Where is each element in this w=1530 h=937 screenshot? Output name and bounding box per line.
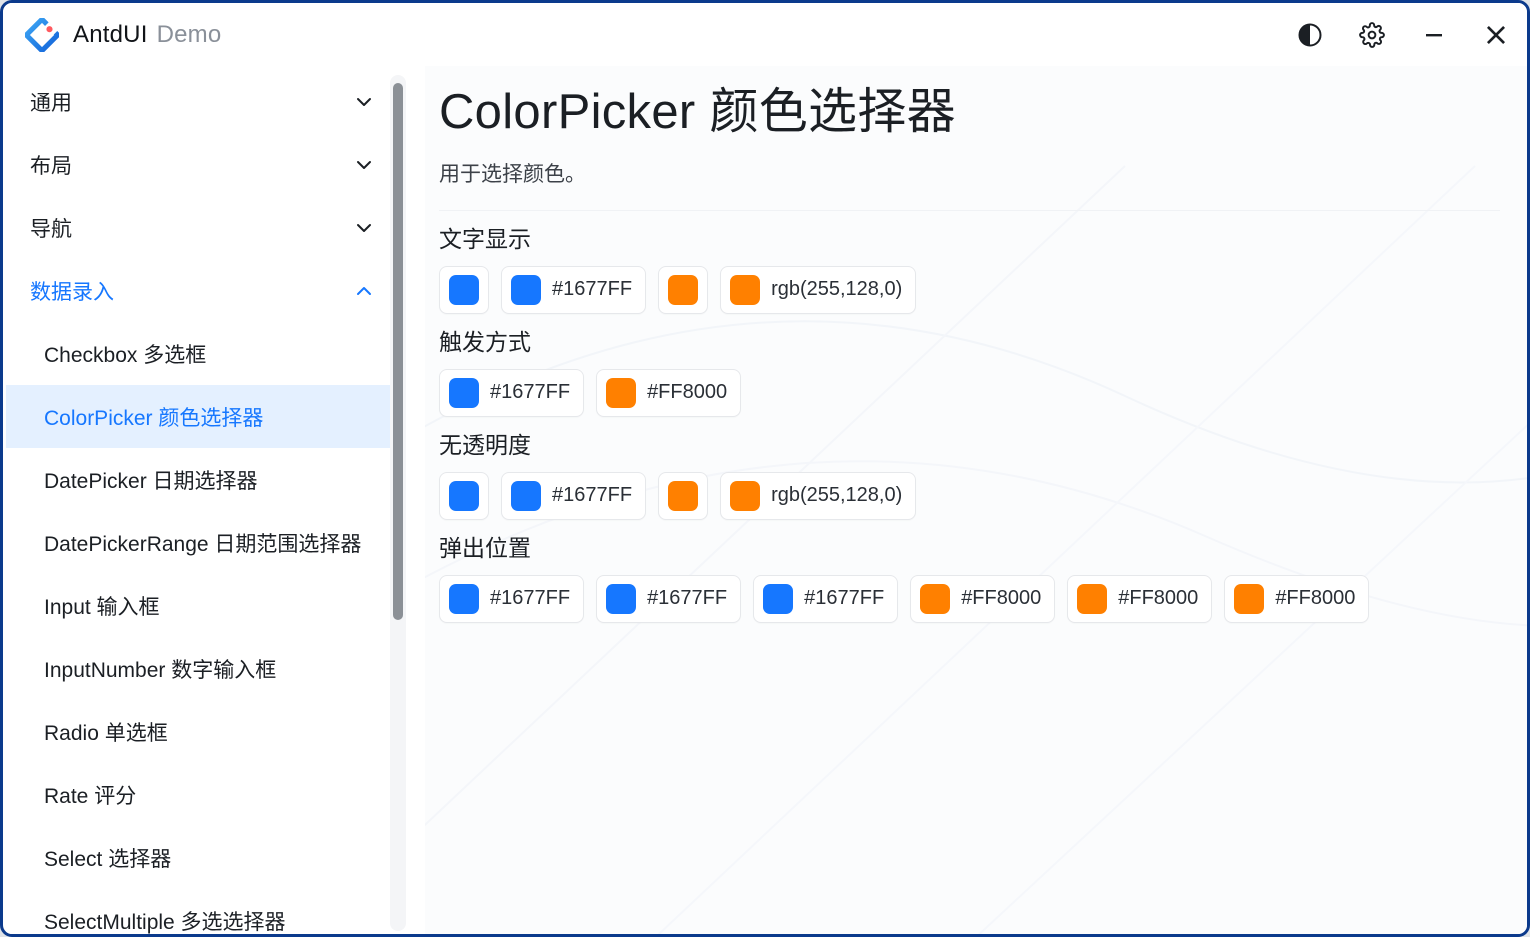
- color-picker-5[interactable]: #FF8000: [1067, 575, 1212, 623]
- section-2: 触发方式#1677FF#FF8000: [439, 323, 1500, 417]
- app-title-sub: Demo: [157, 21, 222, 48]
- color-picker-2[interactable]: #1677FF: [501, 472, 646, 520]
- app-title: AntdUIDemo: [73, 21, 221, 49]
- sidebar-item-9[interactable]: Select 选择器: [6, 826, 406, 889]
- color-swatch-icon: [730, 481, 760, 511]
- color-value-label: #1677FF: [647, 587, 727, 610]
- sidebar-group-1[interactable]: 通用: [6, 70, 406, 133]
- color-picker-1[interactable]: [439, 472, 489, 520]
- color-value-label: #1677FF: [804, 587, 884, 610]
- color-swatch-icon: [449, 481, 479, 511]
- sidebar-group-4[interactable]: 数据录入: [6, 259, 406, 322]
- color-swatch-icon: [730, 275, 760, 305]
- app-window: AntdUIDemo: [0, 0, 1530, 937]
- half-circle-contrast-icon: [1297, 22, 1323, 48]
- sidebar-group-3[interactable]: 导航: [6, 196, 406, 259]
- color-swatch-icon: [668, 481, 698, 511]
- settings-button[interactable]: [1341, 3, 1403, 66]
- color-picker-3[interactable]: #1677FF: [753, 575, 898, 623]
- section-4: 弹出位置#1677FF#1677FF#1677FF#FF8000#FF8000#…: [439, 529, 1500, 623]
- color-swatch-icon: [511, 275, 541, 305]
- section-title: 文字显示: [439, 220, 1500, 254]
- color-swatch-icon: [1077, 584, 1107, 614]
- sidebar-group-label: 布局: [30, 150, 354, 180]
- close-icon: [1481, 20, 1511, 50]
- minimize-button[interactable]: [1403, 3, 1465, 66]
- minimize-icon: [1421, 22, 1447, 48]
- color-picker-1[interactable]: #1677FF: [439, 369, 584, 417]
- chevron-down-icon: [354, 155, 374, 175]
- color-picker-1[interactable]: #1677FF: [439, 575, 584, 623]
- app-brand: AntdUIDemo: [25, 18, 221, 52]
- color-picker-2[interactable]: #1677FF: [596, 575, 741, 623]
- color-picker-3[interactable]: [658, 472, 708, 520]
- sidebar-item-1[interactable]: Checkbox 多选框: [6, 322, 406, 385]
- picker-row: #1677FFrgb(255,128,0): [439, 266, 1500, 314]
- color-picker-1[interactable]: [439, 266, 489, 314]
- color-value-label: #1677FF: [552, 484, 632, 507]
- color-picker-4[interactable]: rgb(255,128,0): [720, 266, 916, 314]
- section-title: 弹出位置: [439, 529, 1500, 563]
- sidebar-group-2[interactable]: 布局: [6, 133, 406, 196]
- color-value-label: rgb(255,128,0): [771, 484, 902, 507]
- sidebar-item-8[interactable]: Rate 评分: [6, 763, 406, 826]
- color-swatch-icon: [606, 378, 636, 408]
- color-swatch-icon: [449, 584, 479, 614]
- sidebar-group-label: 导航: [30, 213, 354, 243]
- section-title: 无透明度: [439, 426, 1500, 460]
- section-1: 文字显示#1677FFrgb(255,128,0): [439, 220, 1500, 314]
- color-value-label: rgb(255,128,0): [771, 278, 902, 301]
- color-picker-4[interactable]: #FF8000: [910, 575, 1055, 623]
- color-swatch-icon: [763, 584, 793, 614]
- color-swatch-icon: [449, 275, 479, 305]
- color-picker-2[interactable]: #1677FF: [501, 266, 646, 314]
- color-swatch-icon: [920, 584, 950, 614]
- antdui-logo-icon: [25, 18, 59, 52]
- sidebar-item-7[interactable]: Radio 单选框: [6, 700, 406, 763]
- sidebar-item-2[interactable]: ColorPicker 颜色选择器: [6, 385, 406, 448]
- color-value-label: #1677FF: [552, 278, 632, 301]
- sidebar-scrollport: 通用布局导航数据录入Checkbox 多选框ColorPicker 颜色选择器D…: [6, 66, 406, 937]
- chevron-down-icon: [354, 92, 374, 112]
- picker-row: #1677FFrgb(255,128,0): [439, 472, 1500, 520]
- picker-row: #1677FF#FF8000: [439, 369, 1500, 417]
- sidebar-scrollbar-track[interactable]: [390, 75, 406, 931]
- color-picker-4[interactable]: rgb(255,128,0): [720, 472, 916, 520]
- color-value-label: #FF8000: [1275, 587, 1355, 610]
- color-swatch-icon: [606, 584, 636, 614]
- title-bar: AntdUIDemo: [3, 3, 1527, 66]
- color-picker-3[interactable]: [658, 266, 708, 314]
- page-subtitle: 用于选择颜色。: [439, 158, 1500, 188]
- color-value-label: #1677FF: [490, 381, 570, 404]
- window-controls: [1279, 3, 1527, 66]
- gear-icon: [1359, 22, 1385, 48]
- sidebar-item-10[interactable]: SelectMultiple 多选选择器: [6, 889, 406, 937]
- sidebar-nav: 通用布局导航数据录入Checkbox 多选框ColorPicker 颜色选择器D…: [6, 66, 406, 937]
- color-picker-6[interactable]: #FF8000: [1224, 575, 1369, 623]
- chevron-down-icon: [354, 218, 374, 238]
- section-3: 无透明度#1677FFrgb(255,128,0): [439, 426, 1500, 520]
- main-content: ColorPicker 颜色选择器 用于选择颜色。 文字显示#1677FFrgb…: [425, 66, 1530, 937]
- close-button[interactable]: [1465, 3, 1527, 66]
- page-title: ColorPicker 颜色选择器: [439, 84, 1500, 142]
- sidebar-item-5[interactable]: Input 输入框: [6, 574, 406, 637]
- sidebar-group-label: 数据录入: [30, 276, 354, 306]
- color-swatch-icon: [1234, 584, 1264, 614]
- section-title: 触发方式: [439, 323, 1500, 357]
- picker-row: #1677FF#1677FF#1677FF#FF8000#FF8000#FF80…: [439, 575, 1500, 623]
- color-value-label: #1677FF: [490, 587, 570, 610]
- color-swatch-icon: [668, 275, 698, 305]
- color-swatch-icon: [449, 378, 479, 408]
- title-divider: [439, 210, 1500, 211]
- app-title-name: AntdUI: [73, 21, 148, 48]
- sidebar-item-6[interactable]: InputNumber 数字输入框: [6, 637, 406, 700]
- color-value-label: #FF8000: [961, 587, 1041, 610]
- theme-toggle-button[interactable]: [1279, 3, 1341, 66]
- color-picker-2[interactable]: #FF8000: [596, 369, 741, 417]
- sections-container: 文字显示#1677FFrgb(255,128,0)触发方式#1677FF#FF8…: [439, 220, 1500, 623]
- color-swatch-icon: [511, 481, 541, 511]
- chevron-up-icon: [354, 281, 374, 301]
- color-value-label: #FF8000: [1118, 587, 1198, 610]
- sidebar-item-4[interactable]: DatePickerRange 日期范围选择器: [6, 511, 406, 574]
- sidebar-group-label: 通用: [30, 87, 354, 117]
- sidebar-scrollbar-thumb[interactable]: [393, 83, 403, 620]
- color-value-label: #FF8000: [647, 381, 727, 404]
- sidebar-item-3[interactable]: DatePicker 日期选择器: [6, 448, 406, 511]
- sidebar: 通用布局导航数据录入Checkbox 多选框ColorPicker 颜色选择器D…: [6, 66, 420, 937]
